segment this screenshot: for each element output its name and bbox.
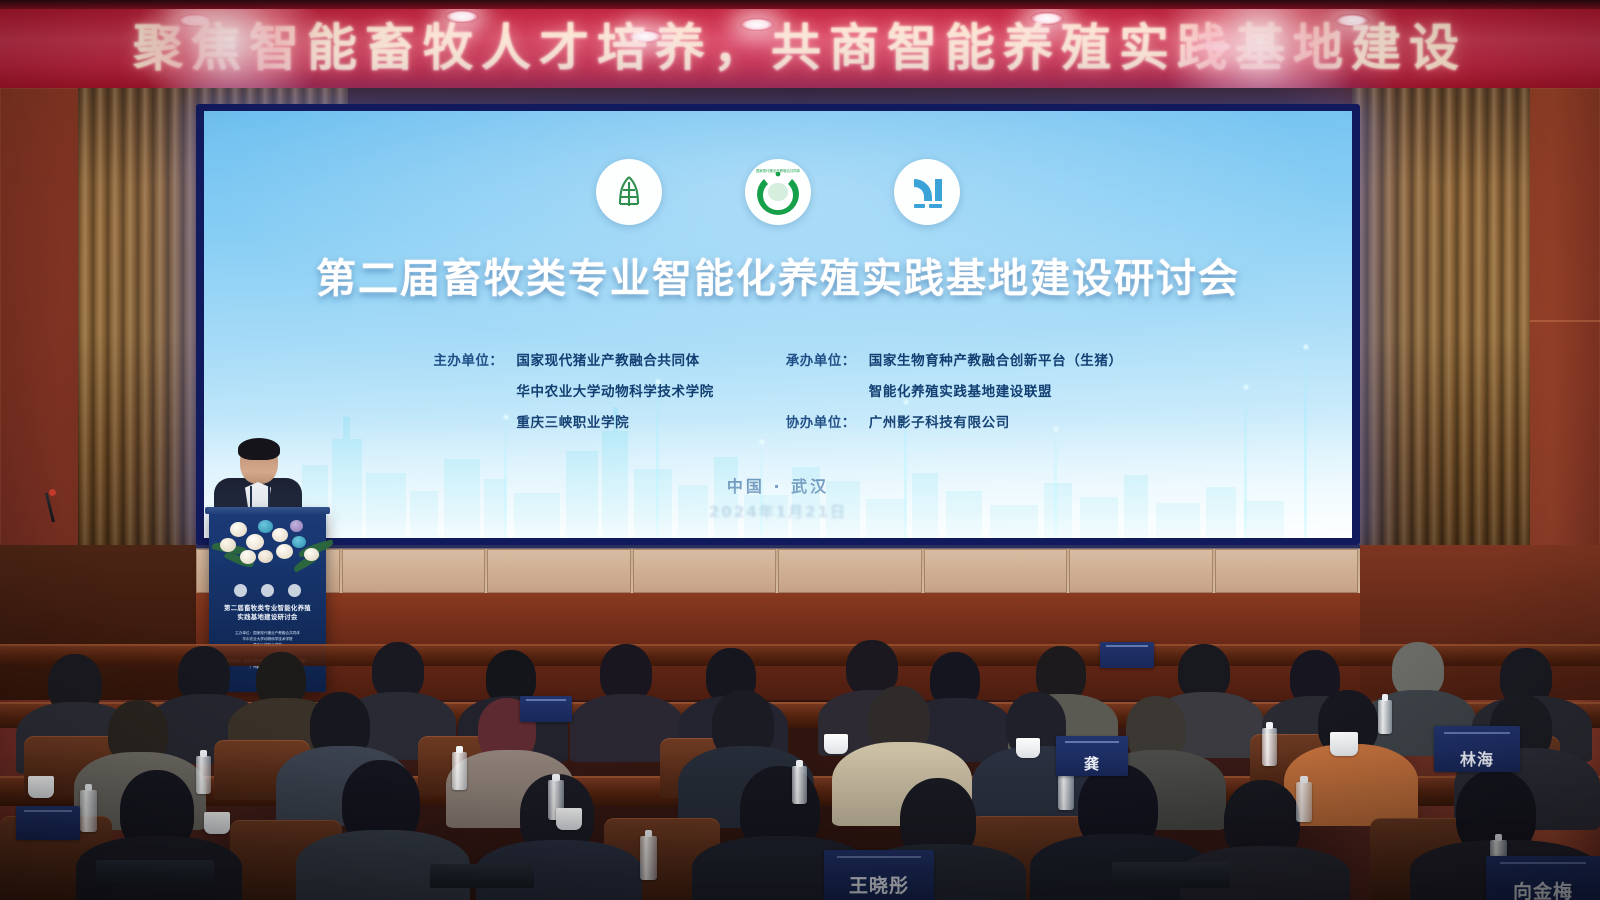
flower-white xyxy=(272,528,288,542)
speaker-hair xyxy=(238,438,280,460)
name-placard xyxy=(16,806,80,840)
ceiling-spot-3 xyxy=(628,30,662,43)
pig-industry-logo: 国家现代猪业产教融合共同体 xyxy=(745,159,811,225)
stage-panel xyxy=(924,549,1068,593)
laptop[interactable] xyxy=(96,860,214,886)
organizer-value: 重庆三峡职业学院 xyxy=(516,411,629,431)
water-bottle xyxy=(80,790,97,832)
water-bottle xyxy=(640,836,657,880)
microphone-head xyxy=(49,489,56,496)
organizer-value: 华中农业大学动物科学技术学院 xyxy=(516,380,713,400)
tea-cup xyxy=(824,734,848,754)
stage-front-panels xyxy=(196,549,1360,593)
flower-arrangement xyxy=(214,510,332,576)
organizer-value: 国家生物育种产教融合创新平台（生猪） xyxy=(869,349,1123,369)
tea-cup xyxy=(556,808,582,830)
red-banner: 聚焦智能畜牧人才培养，共商智能养殖实践基地建设 xyxy=(0,0,1600,88)
stage-panel xyxy=(487,549,631,593)
organizer-row: 主办单位： 华中农业大学动物科学技术学院 xyxy=(433,380,713,400)
tea-cup xyxy=(1016,738,1040,758)
placard-name: 龚 xyxy=(1084,753,1100,776)
podium-logo xyxy=(261,584,274,597)
tea-cup xyxy=(204,812,230,834)
organizer-block: 主办单位： 国家现代猪业产教融合共同体 主办单位： 华中农业大学动物科学技术学院… xyxy=(204,349,1352,431)
name-placard xyxy=(520,696,572,722)
podium-logo xyxy=(288,584,301,597)
podium-logo-row xyxy=(209,584,326,600)
slide-title: 第二届畜牧类专业智能化养殖实践基地建设研讨会 xyxy=(204,246,1352,304)
stage-panel xyxy=(633,549,777,593)
ceiling-spot-2 xyxy=(445,10,479,23)
stage-panel xyxy=(1215,549,1359,593)
flower-white xyxy=(246,534,264,550)
laptop[interactable] xyxy=(430,864,534,888)
water-bottle xyxy=(196,756,211,794)
podium-logo xyxy=(234,584,247,597)
water-bottle xyxy=(1262,728,1277,766)
water-bottle xyxy=(792,766,807,804)
hzau-logo xyxy=(596,159,662,225)
audience-table xyxy=(0,644,1600,666)
name-placard: 林海 xyxy=(1434,726,1520,772)
flower-white xyxy=(304,548,319,561)
shadow-tech-logo xyxy=(894,159,960,225)
laptop[interactable] xyxy=(1112,862,1230,888)
ceiling-lip xyxy=(0,0,1600,9)
organizer-value: 国家现代猪业产教融合共同体 xyxy=(516,349,699,369)
water-bottle xyxy=(452,752,467,790)
name-placard: 王晓彤 xyxy=(824,850,934,900)
flower-white xyxy=(258,550,273,563)
flower-blue xyxy=(258,520,273,533)
podium-title: 第二届畜牧类专业智能化养殖 实践基地建设研讨会 xyxy=(213,604,322,622)
led-screen: 国家现代猪业产教融合共同体 第二届畜牧类专业智能化养殖实践基地建设研讨会 xyxy=(204,111,1352,538)
flower-white xyxy=(220,538,236,552)
organizer-row: 主办单位： 国家现代猪业产教融合共同体 xyxy=(433,349,713,369)
conference-photo: 聚焦智能畜牧人才培养，共商智能养殖实践基地建设 xyxy=(0,0,1600,900)
logo-row: 国家现代猪业产教融合共同体 xyxy=(204,159,1352,229)
podium-title-line-1: 第二届畜牧类专业智能化养殖 xyxy=(213,604,322,613)
tea-cup xyxy=(1330,732,1358,756)
organizer-value: 智能化养殖实践基地建设联盟 xyxy=(869,380,1052,400)
water-bottle xyxy=(1378,700,1392,734)
slide-date: 2024年1月21日 xyxy=(204,501,1352,522)
podium-title-line-2: 实践基地建设研讨会 xyxy=(213,613,322,622)
flower-white xyxy=(230,522,247,537)
organizer-label: 承办单位： xyxy=(786,349,860,369)
placard-name: 林海 xyxy=(1460,746,1494,772)
organizer-value: 广州影子科技有限公司 xyxy=(869,411,1010,431)
flower-blue xyxy=(292,536,306,548)
svg-text:国家现代猪业产教融合共同体: 国家现代猪业产教融合共同体 xyxy=(756,168,801,173)
name-placard: 龚 xyxy=(1056,736,1128,776)
ceiling-spot-4 xyxy=(740,18,774,31)
flower-white xyxy=(240,550,256,564)
organizer-label: 协办单位： xyxy=(786,411,860,431)
slide-place: 中国 · 武汉 xyxy=(204,473,1352,497)
organizer-column-right: 承办单位： 国家生物育种产教融合创新平台（生猪） 承办单位： 智能化养殖实践基地… xyxy=(786,349,1123,431)
organizer-row: 承办单位： 国家生物育种产教融合创新平台（生猪） xyxy=(786,349,1123,369)
placard-name: 向金梅 xyxy=(1513,877,1573,900)
organizer-row: 主办单位： 重庆三峡职业学院 xyxy=(433,411,713,431)
water-bottle xyxy=(1296,782,1312,822)
name-placard xyxy=(1100,642,1154,668)
name-placard: 向金梅 xyxy=(1486,856,1600,900)
organizer-column-left: 主办单位： 国家现代猪业产教融合共同体 主办单位： 华中农业大学动物科学技术学院… xyxy=(433,349,713,431)
tea-cup xyxy=(28,776,54,798)
water-bottle xyxy=(1058,770,1074,810)
placard-name: 王晓彤 xyxy=(849,871,909,900)
audience-area: 龚 林海 王晓彤 向金梅 xyxy=(0,640,1600,900)
stage-panel xyxy=(342,549,486,593)
flower-purple xyxy=(290,520,303,532)
organizer-row: 承办单位： 智能化养殖实践基地建设联盟 xyxy=(786,380,1123,400)
flower-white xyxy=(276,544,293,559)
stage-panel xyxy=(1069,549,1213,593)
organizer-row: 协办单位： 广州影子科技有限公司 xyxy=(786,411,1123,431)
ceiling-spot-5 xyxy=(1030,12,1064,25)
stage-panel xyxy=(778,549,922,593)
banner-glow-right xyxy=(1140,0,1380,88)
organizer-label: 主办单位： xyxy=(433,349,507,369)
banner-glow-left xyxy=(120,0,340,88)
